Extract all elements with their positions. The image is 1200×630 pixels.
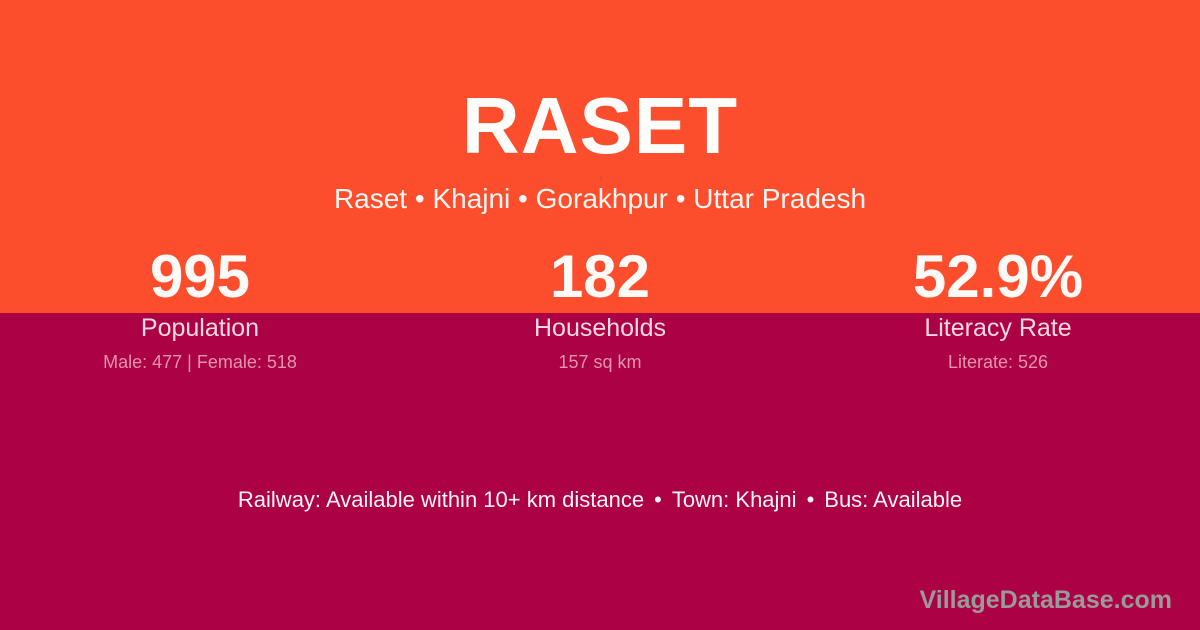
amenity-town: Town: Khajni <box>672 487 797 512</box>
stat-population: 995 Population Male: 477 | Female: 518 <box>0 244 400 374</box>
stats-row: 995 Population Male: 477 | Female: 518 1… <box>0 244 1200 384</box>
stat-literacy-rate: 52.9% Literacy Rate Literate: 526 <box>798 244 1198 374</box>
stat-population-sub: Male: 477 | Female: 518 <box>0 350 400 374</box>
stat-literacy-rate-value: 52.9% <box>798 244 1198 310</box>
stat-literacy-rate-label: Literacy Rate <box>798 312 1198 344</box>
stat-households-sub: 157 sq km <box>400 350 800 374</box>
stat-literacy-rate-sub: Literate: 526 <box>798 350 1198 374</box>
village-info-card: RASET Raset • Khajni • Gorakhpur • Uttar… <box>0 0 1200 630</box>
amenity-separator-1: • <box>644 484 672 516</box>
amenities-line: Railway: Available within 10+ km distanc… <box>0 484 1200 516</box>
stat-population-label: Population <box>0 312 400 344</box>
page-title: RASET <box>0 82 1200 170</box>
card-content: RASET Raset • Khajni • Gorakhpur • Uttar… <box>0 0 1200 630</box>
stat-households-value: 182 <box>400 244 800 310</box>
breadcrumb: Raset • Khajni • Gorakhpur • Uttar Prade… <box>0 180 1200 218</box>
stat-households: 182 Households 157 sq km <box>400 244 800 374</box>
stat-population-value: 995 <box>0 244 400 310</box>
brand-watermark: VillageDataBase.com <box>920 584 1172 616</box>
amenity-separator-2: • <box>797 484 825 516</box>
amenity-bus: Bus: Available <box>824 487 962 512</box>
stat-households-label: Households <box>400 312 800 344</box>
amenity-railway: Railway: Available within 10+ km distanc… <box>238 487 644 512</box>
